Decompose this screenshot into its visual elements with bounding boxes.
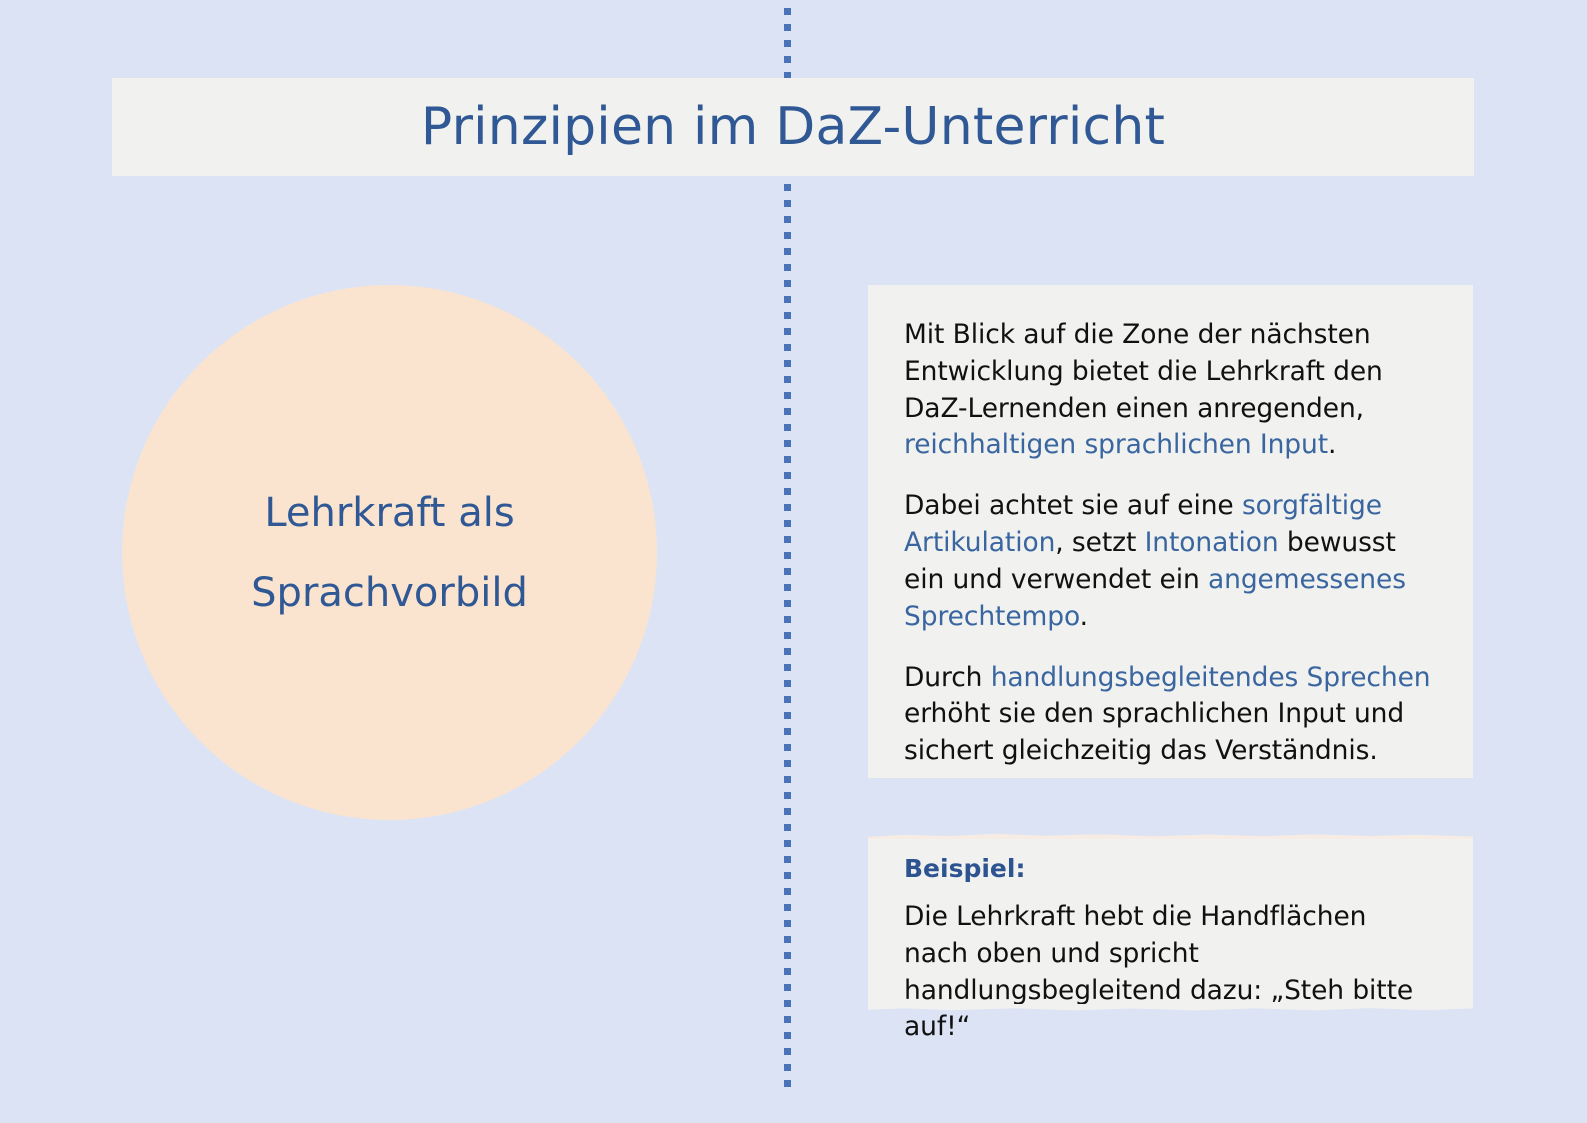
- paragraph-3-highlight-1: handlungsbegleitendes Sprechen: [991, 662, 1431, 693]
- example-label: Beispiel:: [904, 856, 1437, 881]
- paragraph-1: Mit Blick auf die Zone der nächsten Entw…: [904, 317, 1437, 464]
- paragraph-2-highlight-2: Intonation: [1145, 527, 1279, 558]
- slide-canvas: Prinzipien im DaZ-Unterricht Lehrkraft a…: [0, 0, 1587, 1123]
- paragraph-3-text-a: Durch: [904, 662, 991, 693]
- header-band: Prinzipien im DaZ-Unterricht: [112, 78, 1474, 176]
- page-title: Prinzipien im DaZ-Unterricht: [421, 101, 1165, 153]
- topic-circle-line-2: Sprachvorbild: [251, 573, 528, 613]
- paragraph-2-text-b: , setzt: [1055, 527, 1144, 558]
- paragraph-2-text-a: Dabei achtet sie auf eine: [904, 490, 1242, 521]
- paragraph-2: Dabei achtet sie auf eine sorgfältige Ar…: [904, 488, 1437, 635]
- paragraph-3-text-b: erhöht sie den sprachlichen Input und si…: [904, 698, 1404, 766]
- paragraph-1-highlight-1: reichhaltigen sprachlichen Input: [904, 429, 1328, 460]
- example-text: Die Lehrkraft hebt die Handflächen nach …: [904, 899, 1437, 1046]
- paragraph-3: Durch handlungsbegleitendes Sprechen erh…: [904, 660, 1437, 770]
- example-card-body: Beispiel: Die Lehrkraft hebt die Handflä…: [868, 839, 1473, 1005]
- paragraph-2-text-d: .: [1080, 601, 1088, 632]
- paragraph-1-text-b: .: [1328, 429, 1336, 460]
- description-card: Mit Blick auf die Zone der nächsten Entw…: [868, 285, 1473, 778]
- paragraph-1-text-a: Mit Blick auf die Zone der nächsten Entw…: [904, 319, 1383, 424]
- example-card: Beispiel: Die Lehrkraft hebt die Handflä…: [868, 832, 1473, 1012]
- topic-circle: Lehrkraft als Sprachvorbild: [122, 285, 657, 820]
- topic-circle-line-1: Lehrkraft als: [264, 493, 514, 533]
